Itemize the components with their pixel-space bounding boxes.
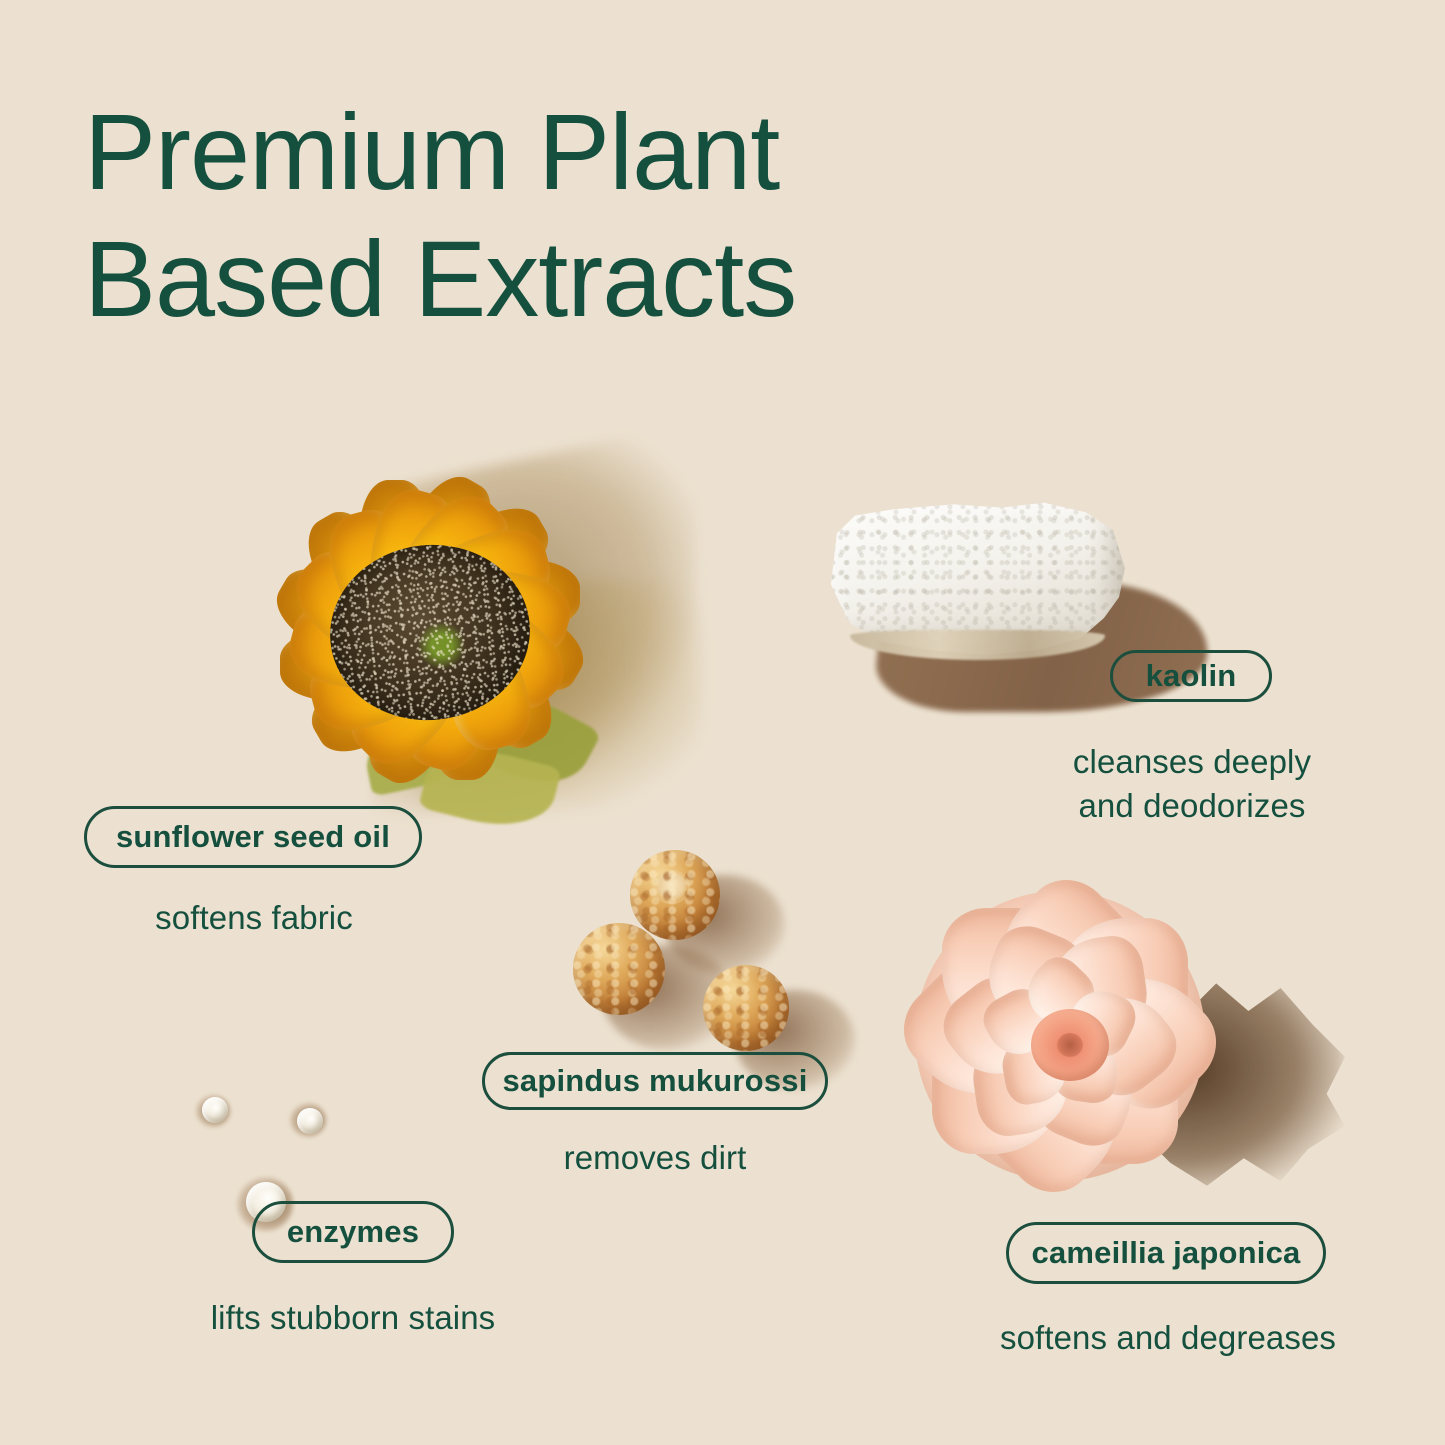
- soap-nut-dimple: [655, 872, 687, 903]
- ingredient-label-kaolin[interactable]: kaolin: [1110, 650, 1272, 702]
- sunflower-seed-head: [321, 535, 538, 730]
- ingredient-label-sapindus-mukurossi[interactable]: sapindus mukurossi: [482, 1052, 828, 1110]
- sunflower-photo: [170, 400, 690, 860]
- camellia-center-bud: [1031, 1009, 1109, 1081]
- soap-nut-berry: [573, 923, 665, 1015]
- enzyme-granule: [297, 1108, 323, 1134]
- soap-nut-berries-photo: [555, 845, 855, 1065]
- ingredient-label-cameillia-japonica[interactable]: cameillia japonica: [1006, 1222, 1326, 1284]
- soap-nut-berry: [630, 850, 720, 940]
- ingredient-caption-sapindus-mukurossi: removes dirt: [482, 1136, 828, 1180]
- camellia-flower-photo: [905, 885, 1325, 1235]
- ingredient-caption-sunflower-seed-oil: softens fabric: [84, 896, 424, 940]
- camellia-bloom: [915, 891, 1205, 1181]
- ingredient-caption-enzymes: lifts stubborn stains: [178, 1296, 528, 1340]
- ingredient-label-sunflower-seed-oil[interactable]: sunflower seed oil: [84, 806, 422, 868]
- page-title: Premium Plant Based Extracts: [84, 88, 984, 343]
- ingredient-label-enzymes[interactable]: enzymes: [252, 1201, 454, 1263]
- product-ingredient-poster: Premium Plant Based Extracts sunfl: [0, 0, 1445, 1445]
- soap-nut-berry: [703, 965, 789, 1051]
- ingredient-caption-kaolin: cleanses deeply and deodorizes: [1022, 740, 1362, 827]
- enzyme-granule: [202, 1097, 228, 1123]
- ingredient-caption-cameillia-japonica: softens and degreases: [996, 1316, 1340, 1360]
